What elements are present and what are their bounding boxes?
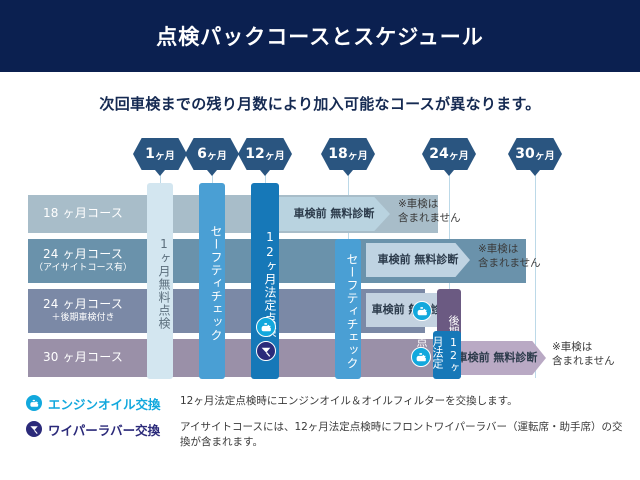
legend-desc-oil: 12ヶ月法定点検時にエンジンオイル＆オイルフィルターを交換します。 bbox=[180, 394, 626, 409]
pre-inspection-box-row2: 車検前 無料診断 bbox=[366, 243, 470, 277]
oil-can-icon-row4 bbox=[411, 347, 431, 367]
column-1month-free-inspection: 1ヶ月無料点検 bbox=[147, 183, 173, 379]
wiper-blade-icon-legend bbox=[26, 421, 42, 437]
month-marker-30: 30ヶ月 bbox=[508, 138, 562, 170]
month-marker-18-tip bbox=[343, 170, 353, 176]
header-banner: 点検パックコースとスケジュール bbox=[0, 0, 640, 72]
column-safety-check-6m: セーフティチェック bbox=[199, 183, 225, 379]
month-marker-18: 18ヶ月 bbox=[321, 138, 375, 170]
subtitle: 次回車検までの残り月数により加入可能なコースが異なります。 bbox=[0, 93, 640, 114]
course-label-24-eyesight: 24 ヶ月コース （アイサイトコース有） bbox=[28, 239, 138, 283]
infographic-page: 点検パックコースとスケジュール 次回車検までの残り月数により加入可能なコースが異… bbox=[0, 0, 640, 480]
schedule-chart: 1ヶ月 6ヶ月 12ヶ月 18ヶ月 24ヶ月 30ヶ月 18 ヶ月コース 車検前… bbox=[0, 135, 640, 385]
course-label-30: 30 ヶ月コース bbox=[28, 339, 138, 377]
note-not-included-row2: ※車検は 含まれません bbox=[478, 243, 541, 270]
course-band-30 bbox=[138, 339, 448, 377]
legend-row-oil: エンジンオイル交換 12ヶ月法定点検時にエンジンオイル＆オイルフィルターを交換し… bbox=[26, 394, 626, 413]
wiper-blade-icon bbox=[256, 341, 276, 361]
pre-inspection-box-row4: 車検前 無料診断 bbox=[448, 341, 546, 375]
legend-desc-wiper: アイサイトコースには、12ヶ月法定点検時にフロントワイパーラバー（運転席・助手席… bbox=[180, 420, 626, 450]
course-label-24-late: 24 ヶ月コース ＋後期車検付き bbox=[28, 289, 138, 333]
oil-can-icon-legend bbox=[26, 395, 42, 411]
legend-title-wiper: ワイパーラバー交換 bbox=[48, 420, 180, 439]
page-title: 点検パックコースとスケジュール bbox=[0, 0, 640, 72]
course-label-18: 18 ヶ月コース bbox=[28, 195, 138, 233]
oil-can-icon bbox=[256, 317, 276, 337]
note-not-included-row1: ※車検は 含まれません bbox=[398, 198, 461, 225]
month-marker-24: 24ヶ月 bbox=[422, 138, 476, 170]
month-marker-12-tip bbox=[260, 170, 270, 176]
month-marker-24-tip bbox=[444, 170, 454, 176]
legend-title-oil: エンジンオイル交換 bbox=[48, 394, 180, 413]
month-marker-6-tip bbox=[207, 170, 217, 176]
column-12month-legal-inspection-row4: 12ヶ月法定点検 bbox=[433, 331, 461, 379]
month-marker-1-tip bbox=[155, 170, 165, 176]
month-marker-30-tip bbox=[530, 170, 540, 176]
month-marker-1: 1ヶ月 bbox=[133, 138, 187, 170]
legend-row-wiper: ワイパーラバー交換 アイサイトコースには、12ヶ月法定点検時にフロントワイパーラ… bbox=[26, 420, 626, 450]
column-safety-check-18m: セーフティチェック bbox=[335, 239, 361, 379]
month-marker-12: 12ヶ月 bbox=[238, 138, 292, 170]
pre-inspection-box-row1: 車検前 無料診断 bbox=[278, 197, 390, 231]
legend: エンジンオイル交換 12ヶ月法定点検時にエンジンオイル＆オイルフィルターを交換し… bbox=[26, 394, 626, 457]
oil-can-icon-row3 bbox=[412, 301, 432, 321]
month-marker-6: 6ヶ月 bbox=[185, 138, 239, 170]
note-not-included-row4: ※車検は 含まれません bbox=[552, 341, 615, 368]
